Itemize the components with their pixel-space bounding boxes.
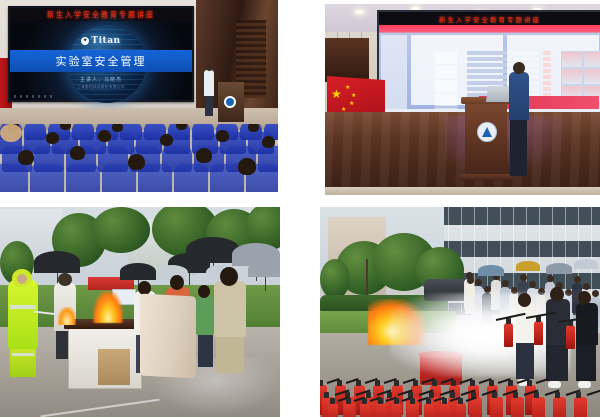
flag-star-icon: ★ [331, 90, 342, 99]
led-banner: 新生入学安全教育专题讲座 [379, 12, 600, 25]
projection-screen: 新生入学安全教育专题讲座 ✦Titan 实验室安全管理 主讲人：马晓杰 上海泰坦… [8, 6, 194, 102]
audience-head [216, 130, 229, 142]
photo-fire-blanket-demo [0, 207, 280, 417]
student-body [196, 295, 214, 335]
audience-seating [0, 124, 278, 192]
stage-edge [325, 187, 600, 195]
audience-head [46, 132, 59, 144]
reflective-stripe [12, 353, 34, 356]
umbrella [34, 251, 80, 273]
ground-extinguisher [344, 403, 354, 417]
crowd-head [529, 281, 536, 288]
slide-footer-dots [14, 95, 54, 98]
window-band [444, 241, 600, 257]
photo-auditorium-lecture: 新生入学安全教育专题讲座 ✦Titan 实验室安全管理 主讲人：马晓杰 上海泰坦… [0, 0, 278, 192]
crowd-head [592, 290, 599, 297]
umbrella-stick [189, 273, 190, 285]
audience-head [196, 148, 212, 163]
umbrella-stick [265, 277, 266, 291]
slide-presenter: 主讲人：马晓杰 [10, 76, 192, 83]
operator-head [578, 291, 591, 305]
led-banner: 新生入学安全教育专题讲座 [10, 8, 192, 21]
ceiling-light [355, 10, 364, 14]
audience-head [98, 130, 111, 142]
operator-body [576, 303, 598, 345]
audience-arm [0, 124, 22, 142]
torch-flame [58, 307, 76, 325]
instructor-face [17, 274, 27, 284]
operator-body [516, 303, 536, 343]
student-body [214, 281, 246, 337]
flag-star-icon: ★ [345, 84, 350, 93]
demo-fire [93, 291, 123, 323]
ground-extinguisher [440, 403, 450, 417]
ground-extinguisher [392, 403, 402, 417]
photo-podium-presentation: 新生入学安全教育专题讲座 ★★★★★ [325, 4, 600, 195]
audience-seat [72, 124, 94, 140]
slide-organization: 上海泰坦科技股份有限公司 [10, 85, 192, 90]
crowd-umbrella [516, 261, 540, 271]
star-circle-icon: ✦ [81, 37, 89, 45]
handheld-extinguisher [566, 325, 575, 349]
student-head [198, 285, 210, 298]
audience-head [248, 124, 259, 132]
audience-seat [120, 124, 142, 140]
umbrella [248, 261, 280, 277]
operator-legs [576, 341, 596, 381]
handheld-extinguisher [534, 321, 543, 345]
guard-head [58, 273, 72, 286]
reflective-stripe [10, 305, 36, 309]
ground-extinguisher [553, 397, 566, 417]
tree [92, 207, 150, 253]
flag-star-icon: ★ [349, 100, 354, 109]
slide-logo: ✦Titan [10, 36, 192, 46]
podium-emblem-icon [477, 122, 497, 142]
audience-head [18, 150, 34, 165]
instructor-raincoat [8, 279, 38, 349]
presenter-legs [510, 116, 527, 176]
operator-head [550, 287, 564, 302]
ground-extinguisher [456, 403, 466, 417]
audience-head [70, 146, 85, 160]
podium [218, 82, 244, 122]
crowd-head [520, 274, 527, 281]
ground-extinguisher [376, 403, 386, 417]
operator-legs [516, 339, 534, 379]
fire-blanket [140, 294, 196, 379]
photo-cell [561, 68, 583, 85]
cardboard-box [98, 349, 130, 385]
audience-head [112, 124, 123, 132]
slide-title: 实验室安全管理 [10, 53, 192, 69]
ground-extinguisher [328, 403, 338, 417]
speaker-body [204, 70, 214, 96]
speaker-legs [205, 94, 213, 116]
operator-legs [546, 341, 568, 381]
audience-head [128, 154, 145, 170]
presenter-body [509, 72, 529, 120]
crowd-head [547, 275, 554, 282]
crowd-head [574, 276, 581, 283]
crowd-head [475, 279, 482, 286]
speaker-head [206, 64, 213, 71]
audience-head [160, 134, 173, 146]
ground-extinguisher [360, 403, 370, 417]
crowd-umbrella [574, 259, 598, 269]
operator-head [518, 293, 531, 307]
tree [320, 259, 350, 299]
photo-extinguisher-practice [320, 207, 600, 417]
ground-extinguisher [490, 397, 503, 417]
crowd-umbrella [478, 265, 504, 276]
ground-extinguisher [574, 397, 587, 417]
crowd-head [484, 286, 491, 293]
slide-logo-text: Titan [91, 36, 120, 46]
led-banner-text: 新生入学安全教育专题讲座 [47, 9, 155, 21]
ground-extinguisher [424, 403, 434, 417]
crowd-head [467, 277, 474, 284]
shoe [548, 381, 561, 388]
audience-head [238, 158, 256, 175]
audience-seat [192, 124, 214, 140]
podium-base [459, 174, 513, 180]
student-head [170, 275, 184, 290]
photo-cell [583, 68, 600, 85]
slide-area: ✦Titan 实验室安全管理 主讲人：马晓杰 上海泰坦科技股份有限公司 [10, 21, 192, 100]
crowd-umbrella [546, 263, 572, 274]
handheld-extinguisher [504, 323, 513, 347]
photo-cell [561, 51, 583, 68]
student-head [220, 267, 238, 286]
crowd-head [502, 280, 509, 287]
audience-head [262, 136, 275, 148]
crowd-head [583, 283, 590, 290]
shoe [578, 381, 591, 388]
audience-seat [24, 124, 46, 140]
photo-collage: 新生入学安全教育专题讲座 ✦Titan 实验室安全管理 主讲人：马晓杰 上海泰坦… [0, 0, 600, 417]
window-band [444, 207, 600, 225]
student-legs [216, 335, 244, 373]
presenter-head [513, 62, 525, 74]
ground-extinguisher [532, 397, 545, 417]
ground-extinguisher [511, 397, 524, 417]
umbrella [120, 263, 156, 280]
student-legs [198, 333, 213, 367]
ground-extinguisher [408, 403, 418, 417]
photo-cell [583, 51, 600, 68]
led-banner-text: 新生入学安全教育专题讲座 [439, 14, 541, 24]
